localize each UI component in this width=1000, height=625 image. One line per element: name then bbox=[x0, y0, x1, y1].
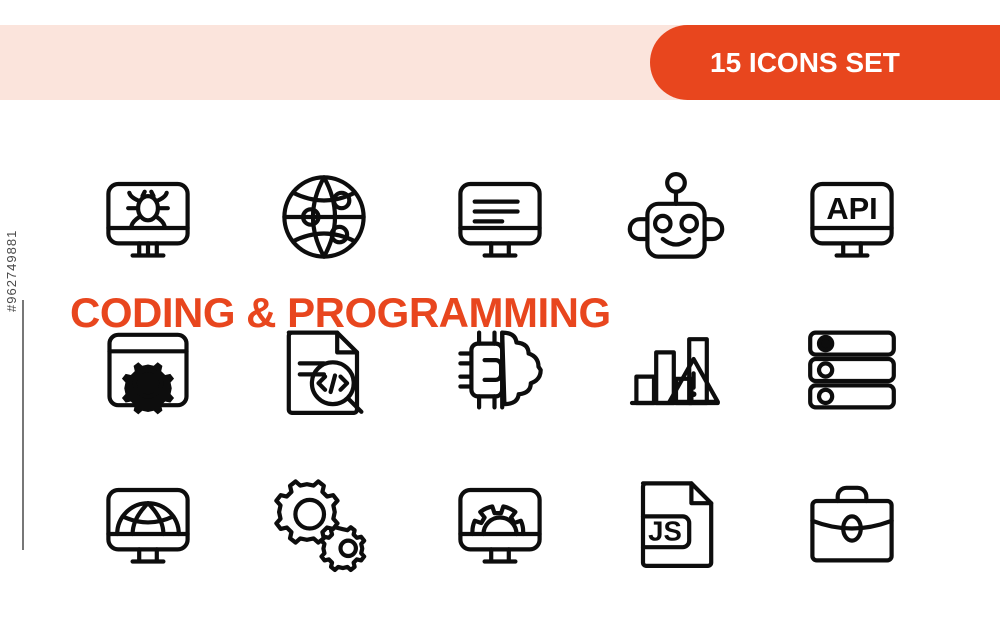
monitor-api-screen-text: API bbox=[826, 191, 877, 226]
bar-chart-warning-icon[interactable] bbox=[588, 293, 764, 446]
monitor-bug-icon[interactable] bbox=[60, 140, 236, 293]
monitor-api-icon[interactable]: API bbox=[764, 140, 940, 293]
js-file-label: JS bbox=[648, 516, 682, 547]
globe-network-icon[interactable] bbox=[236, 140, 412, 293]
watermark-id-text: #962749881 bbox=[4, 230, 19, 312]
monitor-gear-icon[interactable] bbox=[412, 447, 588, 600]
browser-gear-icon[interactable] bbox=[60, 293, 236, 446]
icon-grid: API bbox=[60, 140, 940, 600]
robot-head-icon[interactable] bbox=[588, 140, 764, 293]
chip-brain-icon[interactable] bbox=[412, 293, 588, 446]
document-code-search-icon[interactable] bbox=[236, 293, 412, 446]
monitor-text-lines-icon[interactable] bbox=[412, 140, 588, 293]
icon-count-label: 15 ICONS SET bbox=[710, 47, 900, 79]
js-file-icon[interactable]: JS bbox=[588, 447, 764, 600]
briefcase-icon[interactable] bbox=[764, 447, 940, 600]
watermark-rule bbox=[22, 300, 24, 550]
monitor-globe-icon[interactable] bbox=[60, 447, 236, 600]
gears-pair-icon[interactable] bbox=[236, 447, 412, 600]
server-rack-icon[interactable] bbox=[764, 293, 940, 446]
icon-count-badge: 15 ICONS SET bbox=[650, 25, 1000, 100]
